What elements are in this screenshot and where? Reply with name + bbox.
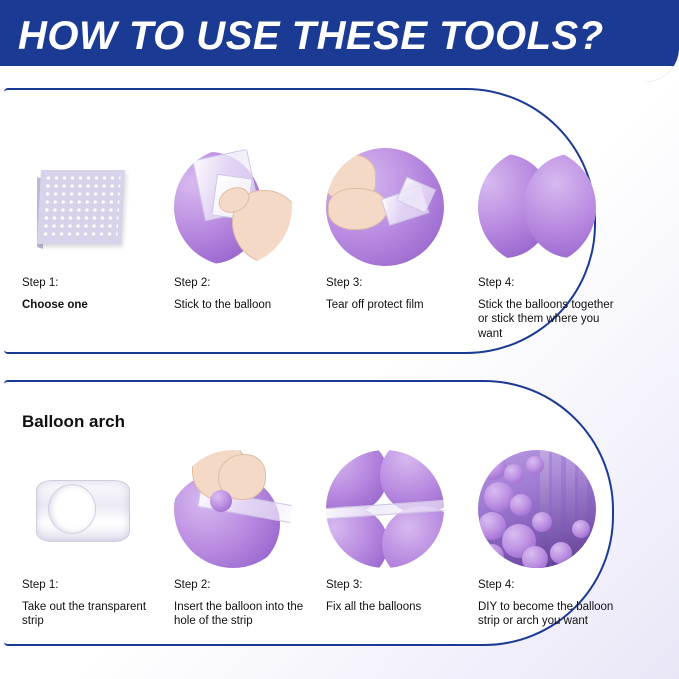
step-item: Step 1: Choose one (22, 148, 172, 312)
step-image-tape-roll (22, 450, 140, 568)
step-label: Step 3: (326, 277, 476, 289)
step-label: Step 2: (174, 277, 324, 289)
step-label: Step 1: (22, 579, 172, 591)
step-image-finished-arch (478, 450, 596, 568)
step-text: Insert the balloon into the hole of the … (174, 600, 320, 629)
step-item: Step 4: Stick the balloons together or s… (478, 148, 628, 341)
page-title: HOW TO USE THESE TOOLS? (18, 14, 604, 59)
step-item: Step 2: Stick to the balloon (174, 148, 324, 312)
step-item: Step 2: Insert the balloon into the hole… (174, 450, 324, 629)
panel-1-steps: Step 1: Choose one Step 2: Stick to the … (4, 90, 594, 352)
step-label: Step 4: (478, 579, 628, 591)
step-item: Step 1: Take out the transparent strip (22, 450, 172, 629)
step-image-tear-off-film (326, 148, 444, 266)
step-text: Stick the balloons together or stick the… (478, 298, 624, 341)
step-label: Step 2: (174, 579, 324, 591)
panel-2-steps: Step 1: Take out the transparent strip S… (4, 382, 612, 644)
step-item: Step 4: DIY to become the balloon strip … (478, 450, 628, 629)
step-text: Fix all the balloons (326, 600, 472, 614)
panel-balloon-arch: Balloon arch Step 1: Take out the transp… (4, 380, 614, 646)
step-item: Step 3: Tear off protect film (326, 148, 476, 312)
step-text: Stick to the balloon (174, 298, 320, 312)
panel-basic-steps: Step 1: Choose one Step 2: Stick to the … (4, 88, 596, 354)
step-label: Step 1: (22, 277, 172, 289)
header-banner: HOW TO USE THESE TOOLS? (0, 0, 679, 82)
step-image-balloons-together (478, 148, 596, 266)
step-image-sticker-sheet (22, 148, 140, 266)
step-label: Step 4: (478, 277, 628, 289)
step-text: Choose one (22, 298, 168, 312)
step-label: Step 3: (326, 579, 476, 591)
step-item: Step 3: Fix all the balloons (326, 450, 476, 614)
step-image-insert-balloon (174, 450, 292, 568)
step-image-fix-balloons (326, 450, 444, 568)
page-background: HOW TO USE THESE TOOLS? Step 1: Choose o… (0, 0, 679, 679)
step-text: Tear off protect film (326, 298, 472, 312)
step-text: Take out the transparent strip (22, 600, 168, 629)
step-image-stick-to-balloon (174, 148, 292, 266)
step-text: DIY to become the balloon strip or arch … (478, 600, 624, 629)
header-curve-decoration (0, 66, 679, 82)
